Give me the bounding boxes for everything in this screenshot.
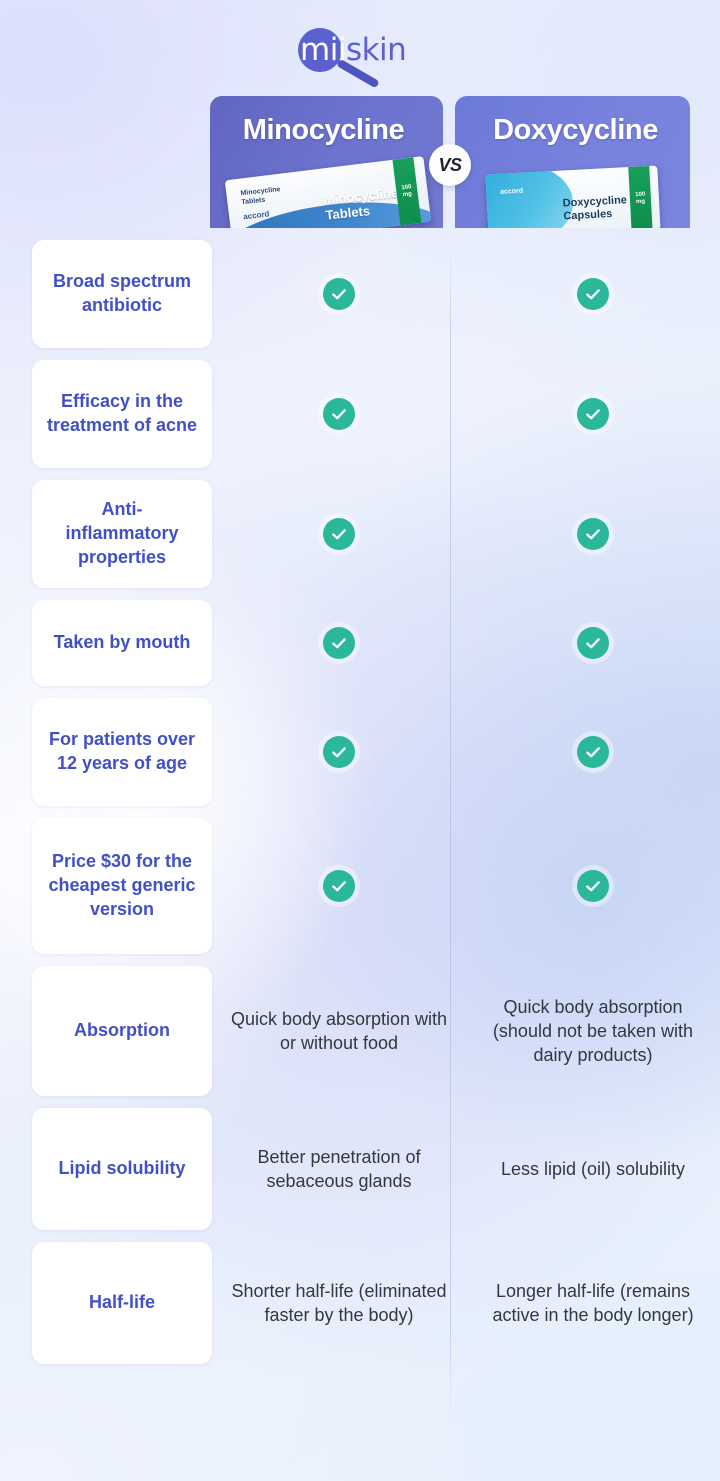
cell-left <box>212 480 466 588</box>
row-label: Price $30 for the cheapest generic versi… <box>32 818 212 954</box>
logo-text: miiskin <box>300 32 406 68</box>
row-label: Half-life <box>32 1242 212 1364</box>
comparison-row: Price $30 for the cheapest generic versi… <box>0 818 720 954</box>
row-label: For patients over 12 years of age <box>32 698 212 806</box>
check-icon <box>577 518 609 550</box>
cell-text: Quick body absorption with or without fo… <box>230 1007 448 1055</box>
cell-left <box>212 698 466 806</box>
cell-right <box>466 600 720 686</box>
check-icon <box>577 870 609 902</box>
product-box-dose-strip: 100 mg <box>628 166 652 228</box>
logo-text-primary: mii <box>300 32 346 68</box>
cell-text: Less lipid (oil) solubility <box>501 1157 685 1181</box>
product-dose-label: 100 mg <box>396 183 418 199</box>
vs-badge: VS <box>429 144 471 186</box>
cell-left <box>212 240 466 348</box>
row-cells: Shorter half-life (eliminated faster by … <box>212 1242 720 1364</box>
product-dose-line1: 100 <box>635 192 645 199</box>
row-label: Anti-inflammatory properties <box>32 480 212 588</box>
comparison-row: Taken by mouth <box>0 600 720 686</box>
product-dose-line2: mg <box>636 198 645 204</box>
row-cells <box>212 360 720 468</box>
row-cells <box>212 698 720 806</box>
product-name-label: Doxycycline Capsules <box>562 194 627 223</box>
cell-left <box>212 818 466 954</box>
comparison-row: Anti-inflammatory properties <box>0 480 720 588</box>
product-image-doxycycline: accord Doxycycline Capsules 100 mg <box>485 166 660 228</box>
comparison-rows: Broad spectrum antibioticEfficacy in the… <box>0 240 720 1376</box>
product-dose-line2: mg <box>402 191 412 198</box>
check-icon <box>577 627 609 659</box>
cell-right <box>466 698 720 806</box>
check-icon <box>323 736 355 768</box>
cell-left: Quick body absorption with or without fo… <box>212 966 466 1096</box>
cell-right <box>466 360 720 468</box>
comparison-row: Half-lifeShorter half-life (eliminated f… <box>0 1242 720 1364</box>
vs-label: VS <box>438 155 461 176</box>
product-name-line1: Doxycycline <box>562 194 627 209</box>
check-icon <box>323 278 355 310</box>
cell-right <box>466 480 720 588</box>
cell-left: Shorter half-life (eliminated faster by … <box>212 1242 466 1364</box>
comparison-row: Efficacy in the treatment of acne <box>0 360 720 468</box>
row-cells <box>212 600 720 686</box>
comparison-row: AbsorptionQuick body absorption with or … <box>0 966 720 1096</box>
cell-text: Longer half-life (remains active in the … <box>484 1279 702 1327</box>
logo-mark: miiskin <box>292 26 428 78</box>
infographic-page: miiskin Minocycline Minocycline Tablets … <box>0 0 720 1481</box>
row-label: Efficacy in the treatment of acne <box>32 360 212 468</box>
product-side-line2: Tablets <box>241 196 266 205</box>
check-icon <box>323 398 355 430</box>
check-icon <box>323 627 355 659</box>
row-cells <box>212 240 720 348</box>
cell-left: Better penetration of sebaceous glands <box>212 1108 466 1230</box>
comparison-row: Lipid solubilityBetter penetration of se… <box>0 1108 720 1230</box>
comparison-header: Minocycline Minocycline Tablets accord M… <box>210 96 690 228</box>
header-title-left: Minocycline <box>210 114 443 147</box>
check-icon <box>577 398 609 430</box>
cell-left <box>212 600 466 686</box>
product-box-body: accord Doxycycline Capsules 100 mg <box>485 166 660 228</box>
row-label: Absorption <box>32 966 212 1096</box>
check-icon <box>323 518 355 550</box>
row-label: Broad spectrum antibiotic <box>32 240 212 348</box>
product-box-body: Minocycline Tablets accord Minocycline T… <box>225 156 432 228</box>
product-image-minocycline: Minocycline Tablets accord Minocycline T… <box>225 156 432 228</box>
cell-right <box>466 818 720 954</box>
cell-right: Quick body absorption (should not be tak… <box>466 966 720 1096</box>
product-brand-label: accord <box>500 188 523 196</box>
logo-text-secondary: skin <box>346 32 406 68</box>
check-icon <box>577 736 609 768</box>
row-cells <box>212 480 720 588</box>
check-icon <box>323 870 355 902</box>
row-cells: Better penetration of sebaceous glandsLe… <box>212 1108 720 1230</box>
comparison-row: For patients over 12 years of age <box>0 698 720 806</box>
product-dose-label: 100 mg <box>630 191 652 205</box>
row-cells: Quick body absorption with or without fo… <box>212 966 720 1096</box>
comparison-row: Broad spectrum antibiotic <box>0 240 720 348</box>
cell-text: Shorter half-life (eliminated faster by … <box>230 1279 448 1327</box>
header-title-right: Doxycycline <box>455 114 690 147</box>
row-cells <box>212 818 720 954</box>
cell-left <box>212 360 466 468</box>
header-panel-doxycycline: Doxycycline accord Doxycycline Capsules … <box>455 96 690 228</box>
product-side-line1: Minocycline <box>240 186 281 197</box>
product-box-side-text: Minocycline Tablets <box>240 185 282 207</box>
brand-logo[interactable]: miiskin <box>0 24 720 80</box>
cell-right <box>466 240 720 348</box>
row-label: Lipid solubility <box>32 1108 212 1230</box>
check-icon <box>577 278 609 310</box>
cell-right: Less lipid (oil) solubility <box>466 1108 720 1230</box>
product-name-line2: Capsules <box>563 207 612 222</box>
cell-text: Better penetration of sebaceous glands <box>230 1145 448 1193</box>
row-label: Taken by mouth <box>32 600 212 686</box>
cell-text: Quick body absorption (should not be tak… <box>484 995 702 1067</box>
cell-right: Longer half-life (remains active in the … <box>466 1242 720 1364</box>
header-panel-minocycline: Minocycline Minocycline Tablets accord M… <box>210 96 443 228</box>
